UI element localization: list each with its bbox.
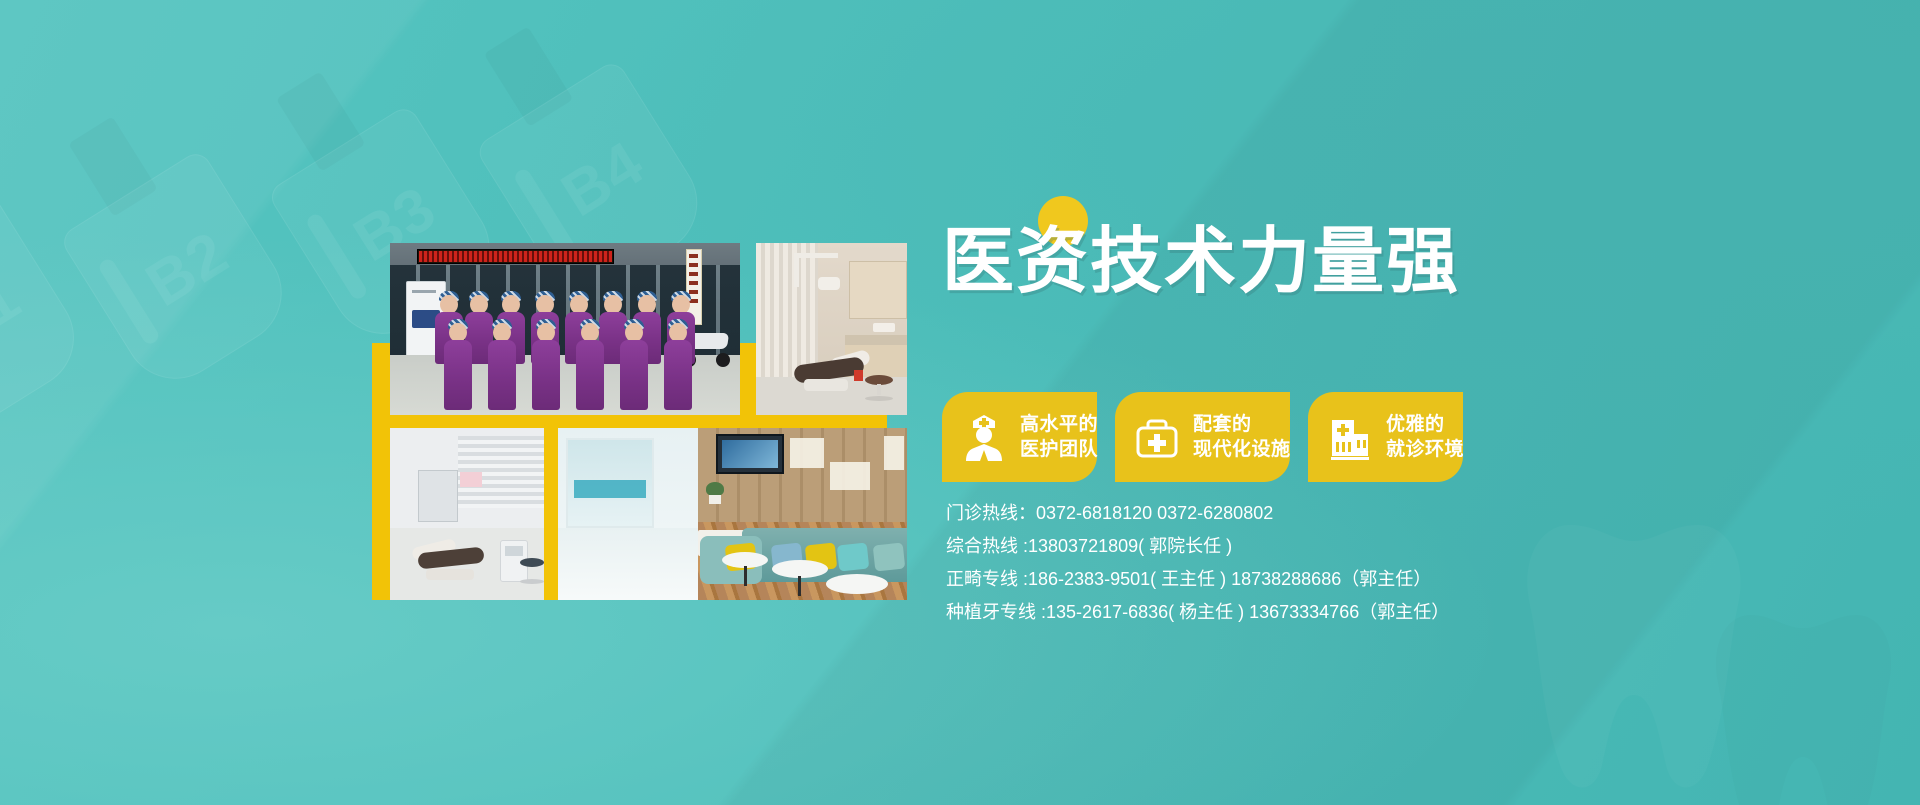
polished-floor [558, 528, 698, 600]
led-sign-text [419, 251, 612, 262]
dental-chair [786, 329, 872, 391]
staff-member [658, 323, 698, 413]
contact-line-general: 综合热线 :13803721809( 郭院长任 ) [946, 530, 1566, 563]
sharps-container [854, 370, 863, 381]
throw-pillow [873, 543, 906, 572]
shade-tab-b2: B2 [58, 148, 301, 398]
photo-collage [372, 243, 907, 600]
staff-member [570, 323, 610, 413]
content-column: 医资技术力量强 高水平的 医护团队 [942, 0, 1582, 805]
shade-tab-stem [276, 71, 366, 171]
dentist-stool [865, 375, 893, 401]
badge-clinic-environment[interactable]: 优雅的 就诊环境 [1308, 392, 1463, 482]
badge-medical-team[interactable]: 高水平的 医护团队 [942, 392, 1097, 482]
coffee-table [826, 574, 888, 594]
badge-modern-facilities[interactable]: 配套的 现代化设施 [1115, 392, 1290, 482]
lounge-seating-area [698, 428, 907, 600]
banner-stage: B1 B2 B3 B4 [0, 0, 1920, 805]
shade-tab-label: B1 [0, 262, 33, 365]
badge-line-2: 现代化设施 [1193, 437, 1291, 462]
operatory-chair [412, 522, 494, 580]
nurse-icon [960, 412, 1008, 462]
badge-label: 优雅的 就诊环境 [1386, 412, 1464, 462]
instrument-cabinet [418, 470, 458, 522]
staff-member [482, 323, 522, 413]
staff-member [438, 323, 478, 413]
headline: 医资技术力量强 [942, 222, 1460, 302]
wall-television [716, 434, 784, 474]
shade-tab-stem [68, 116, 158, 216]
staff-group [424, 295, 712, 413]
led-sign [417, 249, 614, 264]
feature-badges: 高水平的 医护团队 配套的 现代化设施 [942, 392, 1463, 482]
contact-line-outpatient: 门诊热线：0372-6818120 0372-6280802 [946, 497, 1566, 530]
badge-line-1: 优雅的 [1386, 412, 1464, 437]
hospital-building-icon [1326, 412, 1374, 462]
badge-line-1: 高水平的 [1020, 412, 1098, 437]
badge-line-2: 就诊环境 [1386, 437, 1464, 462]
contact-line-orthodontic: 正畸专线 :186-2383-9501( 王主任 ) 18738288686（郭… [946, 563, 1566, 596]
badge-line-2: 医护团队 [1020, 437, 1098, 462]
badge-line-1: 配套的 [1193, 412, 1291, 437]
badge-label: 配套的 现代化设施 [1193, 412, 1291, 462]
throw-pillow [837, 543, 870, 572]
clinic-team-photo [390, 243, 740, 415]
headline-text: 医资技术力量强 [942, 222, 1460, 302]
sink [873, 323, 895, 332]
dental-lamp [794, 253, 840, 295]
light-panel [884, 436, 904, 470]
badge-label: 高水平的 医护团队 [1020, 412, 1098, 462]
staff-member [526, 323, 566, 413]
shade-tab-stem [484, 26, 574, 126]
shade-tab-label: B4 [550, 128, 657, 231]
dental-operatory-photo [390, 428, 544, 600]
contact-list: 门诊热线：0372-6818120 0372-6280802 综合热线 :138… [946, 497, 1566, 629]
dental-treatment-room-photo [756, 243, 907, 415]
waiting-lounge-photo [558, 428, 907, 600]
light-panel [830, 462, 870, 490]
contact-line-implant: 种植牙专线 :135-2617-6836( 杨主任 ) 13673334766（… [946, 596, 1566, 629]
light-panel [790, 438, 824, 468]
shade-tab-label: B2 [134, 218, 241, 321]
operator-stool [520, 558, 544, 584]
corridor-reception [566, 438, 654, 528]
medical-kit-icon [1133, 412, 1181, 462]
potted-plant [706, 482, 724, 504]
wall-poster [460, 472, 482, 487]
staff-member [614, 323, 654, 413]
staff-row-front [424, 321, 712, 413]
wall-cabinet [849, 261, 907, 319]
